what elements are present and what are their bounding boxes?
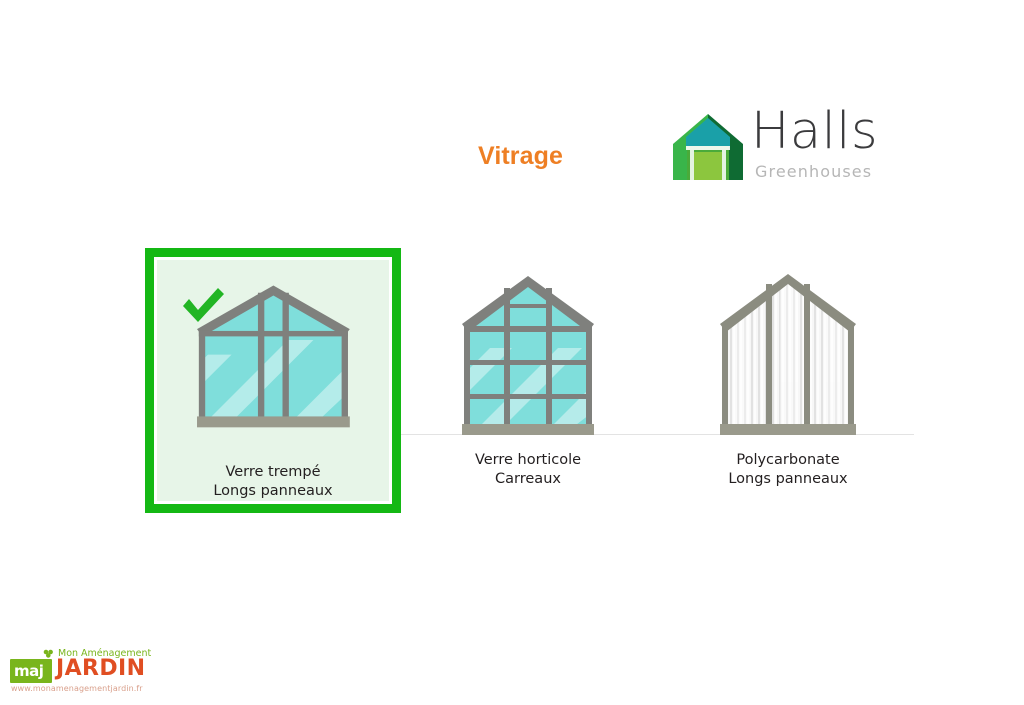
maj-url-text: www.monamenagementjardin.fr: [11, 684, 143, 693]
option-label-verre-horticole: Verre horticole Carreaux: [400, 451, 656, 488]
label-line-2: Longs panneaux: [157, 482, 389, 501]
option-card-fill: Verre horticole Carreaux: [400, 248, 656, 513]
maj-badge: maj: [10, 659, 52, 683]
page-title: Vitrage: [478, 142, 563, 171]
halls-logo: Halls Greenhouses: [673, 112, 863, 190]
clover-icon: [43, 649, 54, 658]
mon-amenagement-jardin-logo[interactable]: maj Mon Aménagement JARDIN www.monamenag…: [10, 648, 146, 694]
option-card-fill: Verre trempé Longs panneaux: [157, 260, 389, 501]
option-label-verre-trempe: Verre trempé Longs panneaux: [157, 463, 389, 500]
label-line-1: Polycarbonate: [660, 451, 916, 470]
slide-canvas: Vitrage Halls Greenhouses: [0, 0, 1024, 705]
halls-tagline: Greenhouses: [755, 162, 872, 181]
option-card-verre-trempe[interactable]: Verre trempé Longs panneaux: [145, 248, 401, 513]
label-line-1: Verre trempé: [157, 463, 389, 482]
option-card-fill: Polycarbonate Longs panneaux: [660, 248, 916, 513]
option-card-polycarbonate[interactable]: Polycarbonate Longs panneaux: [660, 248, 916, 513]
option-label-polycarbonate: Polycarbonate Longs panneaux: [660, 451, 916, 488]
label-line-1: Verre horticole: [400, 451, 656, 470]
label-line-2: Carreaux: [400, 470, 656, 489]
label-line-2: Longs panneaux: [660, 470, 916, 489]
halls-wordmark: Halls: [751, 106, 878, 157]
option-card-verre-horticole[interactable]: Verre horticole Carreaux: [400, 248, 656, 513]
check-icon: [179, 284, 227, 328]
maj-main-text: JARDIN: [56, 657, 145, 681]
halls-house-icon: [673, 114, 743, 180]
maj-badge-text: maj: [14, 662, 43, 680]
